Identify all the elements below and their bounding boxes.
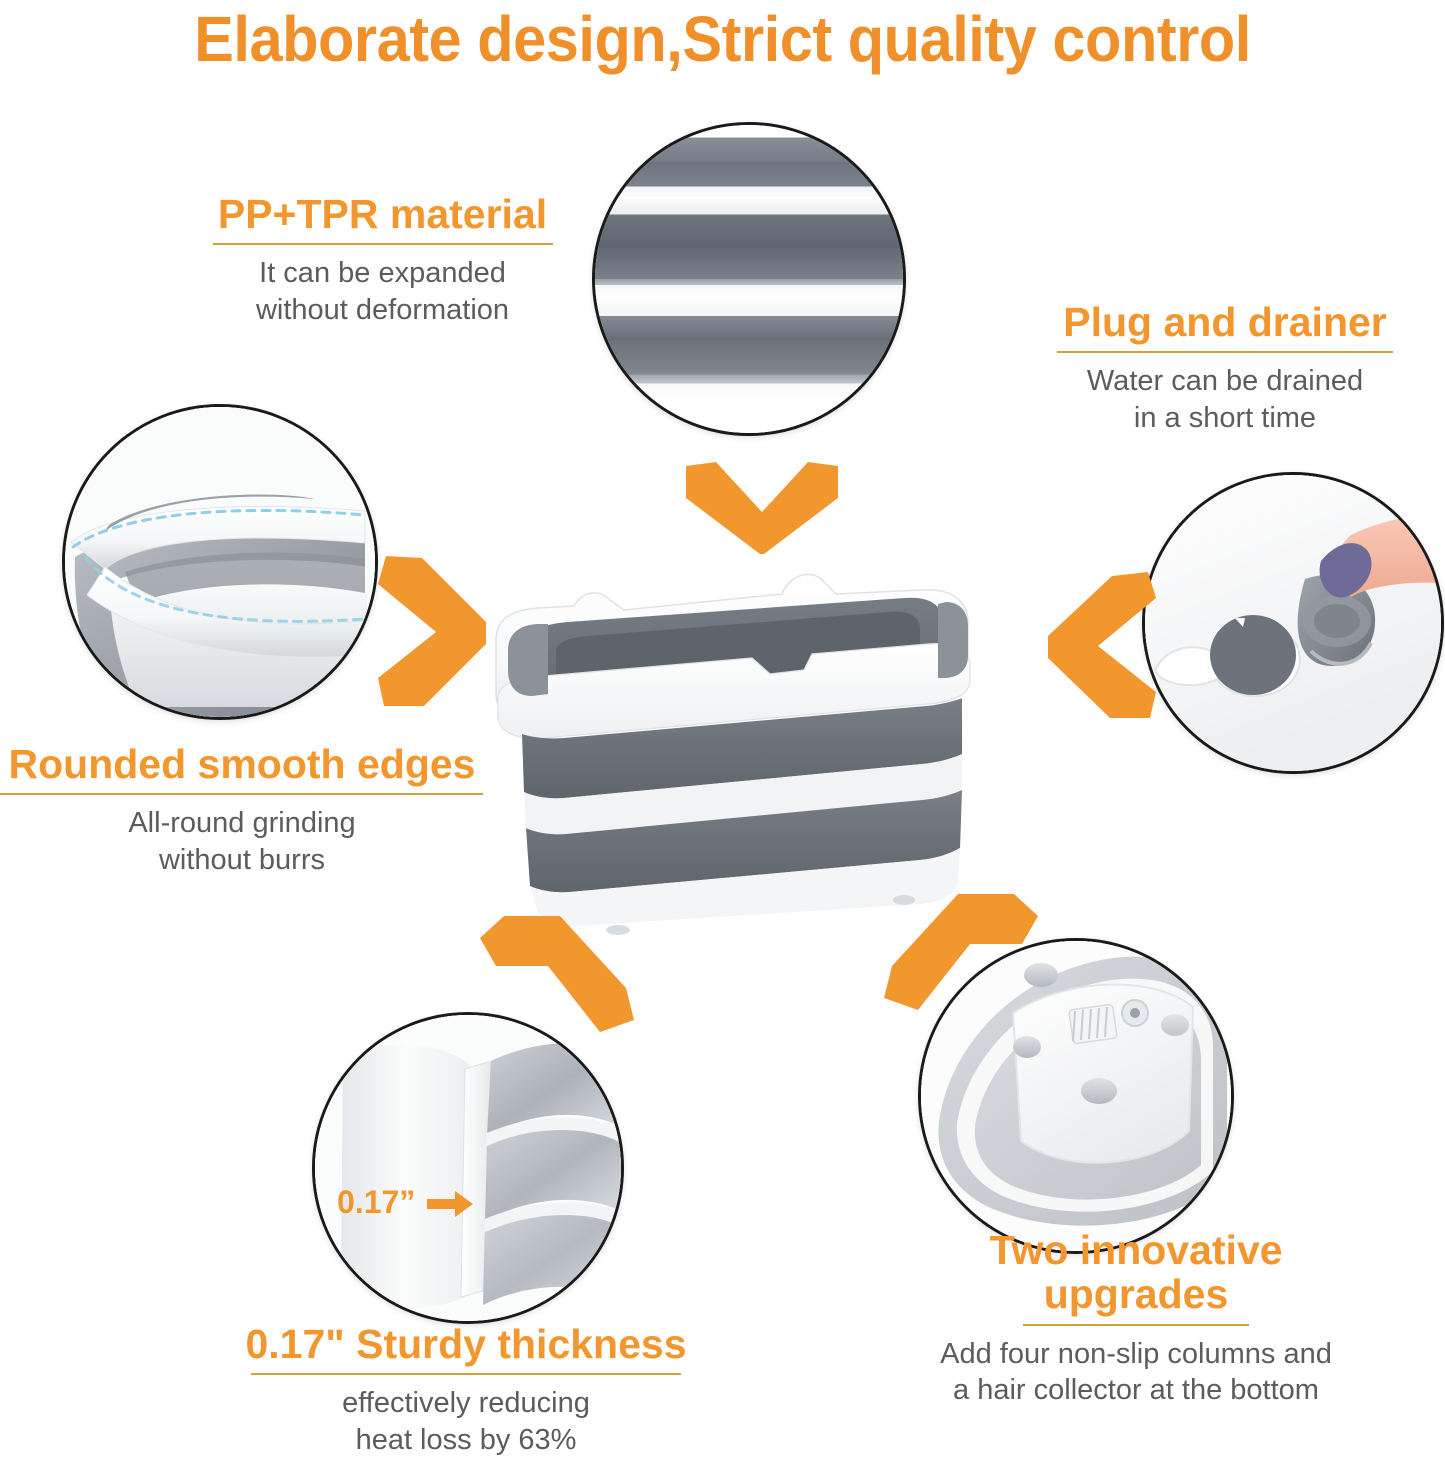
wall-thickness-closeup: 0.17” [315,1015,621,1321]
feature-block-material: PP+TPR material It can be expanded witho… [155,192,610,328]
thickness-callout-text: 0.17” [337,1184,415,1220]
feature-subtitle-line-2: a hair collector at the bottom [900,1372,1372,1409]
feature-block-upgrades: Two innovative upgrades Add four non-sli… [900,1228,1372,1409]
feature-subtitle-line-1: It can be expanded [155,255,610,292]
feature-title-edges: Rounded smooth edges [0,742,492,786]
striped-material-closeup [595,125,903,433]
feature-block-plug: Plug and drainer Water can be drained in… [1005,300,1445,436]
feature-divider [1057,351,1393,353]
feature-subtitle-line-2: heat loss by 63% [214,1422,718,1459]
feature-subtitle-line-1: Water can be drained [1005,363,1445,400]
feature-image-thickness: 0.17” [312,1012,624,1324]
rounded-rim-closeup [65,407,375,717]
feature-title-upgrades: Two innovative upgrades [900,1228,1372,1317]
feature-block-thickness: 0.17" Sturdy thickness effectively reduc… [214,1322,718,1458]
hair-collector-grate [1069,1004,1117,1044]
chevron-up-left-arrow [872,872,1044,1012]
feature-divider [1023,1324,1249,1326]
feature-title-material: PP+TPR material [155,192,610,236]
chevron-down-arrow [686,462,838,554]
feature-subtitle-line-1: effectively reducing [214,1385,718,1422]
non-slip-column [1081,1078,1117,1104]
feature-subtitle-line-2: in a short time [1005,400,1445,437]
feature-divider [213,243,553,245]
infographic-page: Elaborate design,Strict quality control [0,0,1445,1464]
feature-divider [0,793,483,795]
non-slip-column [1013,1036,1041,1058]
feature-subtitle-line-2: without burrs [0,842,492,879]
feature-block-edges: Rounded smooth edges All-round grinding … [0,742,492,878]
chevron-up-right-arrow [474,892,654,1032]
feature-title-thickness: 0.17" Sturdy thickness [214,1322,718,1366]
chevron-left-arrow [1044,572,1156,720]
feature-subtitle-line-2: without deformation [155,292,610,329]
feature-image-edges [62,404,378,720]
feature-divider [251,1373,681,1375]
feature-image-material [592,122,906,436]
plug-illustration [1145,475,1441,771]
thickness-illustration: 0.17” [315,1015,621,1321]
feature-subtitle-line-1: Add four non-slip columns and [900,1336,1372,1373]
feature-subtitle-line-1: All-round grinding [0,805,492,842]
non-slip-column [1161,1014,1189,1036]
feature-title-plug: Plug and drainer [1005,300,1445,344]
plug-and-drainer-closeup [1145,475,1441,771]
chevron-right-arrow [378,556,490,708]
page-headline: Elaborate design,Strict quality control [51,2,1395,76]
feature-image-plug [1142,472,1444,774]
rounded-rim-illustration [65,407,375,717]
